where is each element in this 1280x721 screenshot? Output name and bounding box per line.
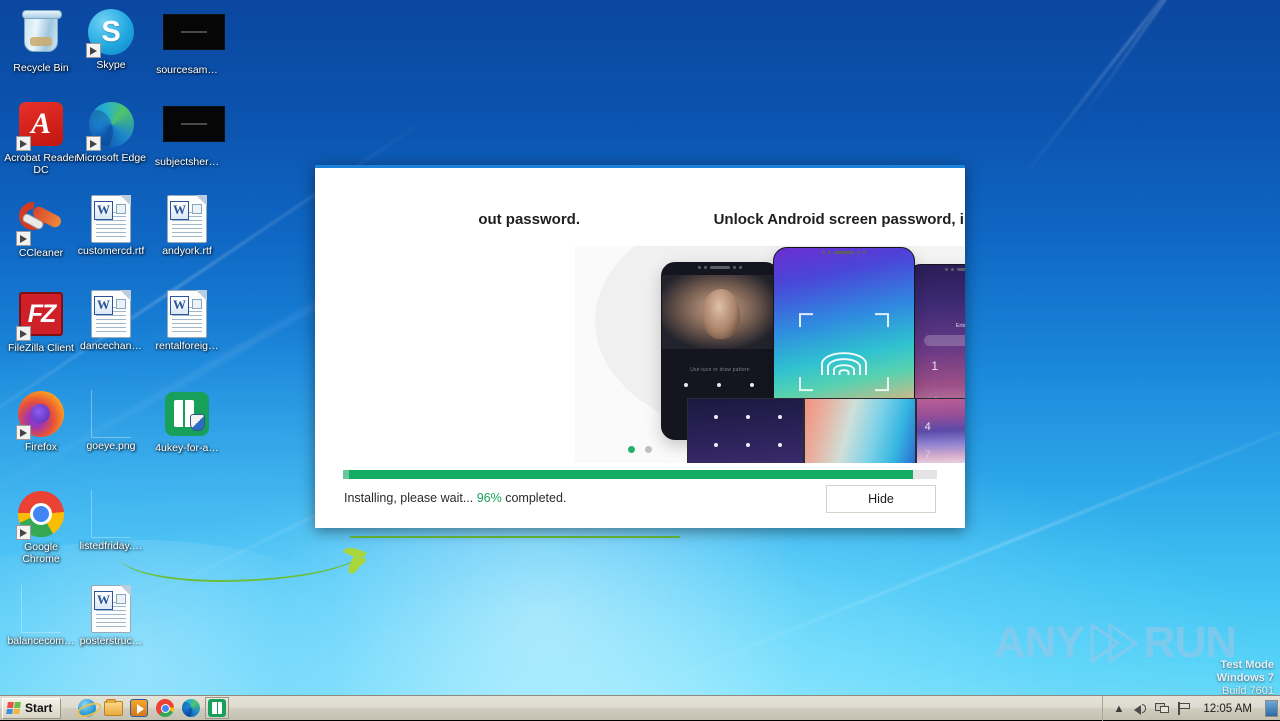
anyrun-play-icon	[1088, 621, 1140, 665]
firefox-icon	[17, 391, 65, 439]
system-tray[interactable]: ▲ 12:05 AM	[1102, 696, 1280, 721]
strip-keypad-screen: 4 5 6 7 8 9	[916, 398, 965, 463]
edge-icon	[182, 699, 200, 717]
carousel-dots[interactable]	[315, 446, 965, 453]
desktop-icon[interactable]: Wandyork.rtf	[150, 195, 224, 258]
face-photo	[662, 275, 779, 349]
desktop-icon[interactable]: Firefox	[4, 390, 78, 454]
desktop-icon[interactable]: listedfriday.…	[74, 490, 148, 553]
taskbar-item-windows-explorer[interactable]	[101, 697, 125, 719]
windows-logo-icon	[6, 702, 22, 715]
desktop-icon[interactable]: Wposterstruc…	[74, 585, 148, 648]
desktop-icon-label: Google Chrome	[4, 542, 78, 565]
pin-entry-field	[924, 335, 965, 346]
desktop-icon-label: sourcesam…	[150, 65, 224, 77]
phone-hint-text: Use tuce or draw pattern	[662, 367, 778, 373]
desktop-icon-label: subjectsher…	[150, 157, 224, 169]
carousel-headline-current: Unlock Android screen password, includin…	[575, 211, 965, 228]
wallpaper-grass-stem	[350, 536, 680, 574]
desktop-icon-label: balancecom…	[4, 636, 78, 648]
desktop-icon-label: Skype	[74, 60, 148, 72]
recyclebin-icon	[17, 12, 65, 60]
shortcut-overlay-icon	[16, 231, 31, 246]
installer-window[interactable]: out password. Unlock Android screen pass…	[315, 165, 965, 528]
desktop-icon-label: CCleaner	[4, 248, 78, 260]
desktop-icon-label: andyork.rtf	[150, 246, 224, 258]
desktop-icon[interactable]: Microsoft Edge	[74, 100, 148, 165]
taskbar-item-4ukey-android[interactable]	[205, 697, 229, 719]
test-mode-line: Test Mode	[1217, 659, 1274, 672]
desktop-icon-label: dancechan…	[74, 341, 148, 353]
carousel-track: out password. Unlock Android screen pass…	[315, 168, 965, 463]
status-prefix: Installing, please wait...	[344, 491, 477, 505]
phone-status-bar	[774, 248, 914, 257]
blank-icon	[17, 585, 65, 633]
filezilla-icon: FZ	[17, 292, 65, 340]
fourukey-icon	[208, 699, 226, 717]
desktop-icon-label: Firefox	[4, 442, 78, 454]
edge-icon	[87, 102, 135, 150]
desktop-icon[interactable]: Wdancechan…	[74, 290, 148, 353]
pin-key: 1	[918, 359, 951, 373]
install-progress-area: Installing, please wait... 96% completed…	[315, 463, 965, 528]
network-icon[interactable]	[1155, 701, 1170, 716]
strip-key: 4	[925, 421, 931, 433]
taskbar-clock[interactable]: 12:05 AM	[1199, 703, 1256, 715]
desktop-icon[interactable]: Recycle Bin	[4, 8, 78, 75]
word-icon: W	[87, 290, 135, 338]
taskbar[interactable]: Start ▲ 12:05 AM	[0, 695, 1280, 720]
status-suffix: completed.	[502, 491, 567, 505]
desktop-icon[interactable]: Wcustomercd.rtf	[74, 195, 148, 258]
desktop-icon-label: 4ukey-for-a…	[150, 443, 224, 455]
taskbar-item-microsoft-edge[interactable]	[179, 697, 203, 719]
hide-button[interactable]: Hide	[826, 485, 936, 513]
fingerprint-icon	[813, 325, 875, 379]
pin-label: Enter Pin	[908, 323, 965, 329]
shortcut-overlay-icon	[16, 525, 31, 540]
promo-carousel[interactable]: out password. Unlock Android screen pass…	[315, 168, 965, 463]
anyrun-brand-run: RUN	[1144, 618, 1236, 668]
desktop-icon[interactable]: sourcesam…	[150, 8, 224, 77]
test-mode-watermark: Test Mode Windows 7 Build 7601	[1217, 659, 1274, 698]
action-center-flag-icon[interactable]	[1177, 701, 1192, 716]
wallpaper-grass-leaf	[343, 544, 367, 561]
png-icon	[87, 390, 135, 438]
desktop-icon-label: Microsoft Edge	[74, 153, 148, 165]
taskbar-item-google-chrome[interactable]	[153, 697, 177, 719]
desktop-icon[interactable]: 4ukey-for-a…	[150, 390, 224, 455]
desktop-icon-label: customercd.rtf	[74, 246, 148, 258]
internet-explorer-icon	[78, 699, 96, 717]
desktop-icon-label: goeye.png	[74, 441, 148, 453]
chrome-icon	[17, 491, 65, 539]
shortcut-overlay-icon	[16, 326, 31, 341]
volume-icon[interactable]	[1133, 701, 1148, 716]
shortcut-overlay-icon	[16, 136, 31, 151]
quick-launch-bar[interactable]	[75, 697, 229, 719]
desktop-icon[interactable]: CCleaner	[4, 195, 78, 260]
taskbar-item-internet-explorer[interactable]	[75, 697, 99, 719]
blackfile-icon	[163, 14, 211, 62]
wallpaper-grass-stem	[120, 520, 370, 582]
desktop-icon-label: FileZilla Client	[4, 343, 78, 355]
ccleaner-icon	[17, 197, 65, 245]
desktop-icon[interactable]: AAcrobat Reader DC	[4, 100, 78, 176]
wallpaper-ray	[1079, 0, 1253, 122]
taskbar-item-windows-media-player[interactable]	[127, 697, 151, 719]
show-desktop-button[interactable]	[1265, 700, 1278, 717]
shortcut-overlay-icon	[86, 43, 101, 58]
progress-bar-track	[343, 470, 937, 479]
desktop-icon[interactable]: SSkype	[74, 8, 148, 72]
progress-bar-fill	[343, 470, 913, 479]
carousel-slide-current: Unlock Android screen password, includin…	[575, 168, 965, 463]
desktop-icon-label: Recycle Bin	[4, 63, 78, 75]
pin-key: 2	[951, 359, 965, 373]
desktop-icon-label: posterstruc…	[74, 636, 148, 648]
start-button-label: Start	[25, 701, 52, 715]
desktop[interactable]: Recycle BinSSkypesourcesam…AAcrobat Read…	[0, 0, 1280, 720]
blackfile-icon	[163, 106, 211, 154]
screenshot-strip: 4 5 6 7 8 9	[687, 398, 965, 463]
phone-side-button	[914, 306, 915, 328]
word-icon: W	[87, 585, 135, 633]
desktop-icon-label: listedfriday.…	[74, 541, 148, 553]
fourukey-icon	[163, 392, 211, 440]
word-icon: W	[163, 290, 211, 338]
start-button[interactable]: Start	[2, 698, 61, 719]
carousel-illustration: Use tuce or draw pattern	[575, 246, 965, 463]
anyrun-brand-any: ANY	[994, 618, 1084, 668]
wallpaper-grass-leaf	[349, 551, 362, 574]
shortcut-overlay-icon	[16, 425, 31, 440]
skype-icon: S	[87, 9, 135, 57]
status-percent: 96%	[477, 491, 502, 505]
desktop-icon[interactable]: Google Chrome	[4, 490, 78, 565]
carousel-dot-2[interactable]	[645, 446, 652, 453]
desktop-icon[interactable]: subjectsher…	[150, 100, 224, 169]
phone-status-bar	[662, 263, 778, 272]
blank-icon	[87, 490, 135, 538]
desktop-icon[interactable]: Wrentalforeig…	[150, 290, 224, 353]
install-status-text: Installing, please wait... 96% completed…	[344, 491, 566, 505]
shortcut-overlay-icon	[86, 136, 101, 151]
media-player-icon	[130, 699, 148, 717]
carousel-slide-previous: out password.	[315, 168, 585, 463]
pattern-dot-grid	[684, 383, 758, 387]
strip-gradient-screen	[804, 398, 915, 463]
desktop-icon[interactable]: FZFileZilla Client	[4, 290, 78, 355]
chrome-icon	[156, 699, 174, 717]
wallpaper-ray	[1019, 0, 1242, 182]
anyrun-watermark: ANY RUN	[994, 618, 1236, 668]
strip-pattern-screen	[687, 398, 804, 463]
desktop-icon-label: rentalforeig…	[150, 341, 224, 353]
desktop-icon-label: Acrobat Reader DC	[4, 153, 78, 176]
carousel-headline-previous: out password.	[315, 211, 585, 228]
wallpaper-grass-leaf	[346, 557, 367, 571]
desktop-icon[interactable]: goeye.png	[74, 390, 148, 453]
os-line: Windows 7	[1217, 672, 1274, 685]
acrobat-icon: A	[17, 102, 65, 150]
carousel-dot-1[interactable]	[628, 446, 635, 453]
word-icon: W	[163, 195, 211, 243]
phone-status-bar	[908, 265, 965, 274]
show-hidden-icons-icon[interactable]: ▲	[1111, 701, 1126, 716]
folder-icon	[104, 701, 123, 716]
word-icon: W	[87, 195, 135, 243]
desktop-icon[interactable]: balancecom…	[4, 585, 78, 648]
